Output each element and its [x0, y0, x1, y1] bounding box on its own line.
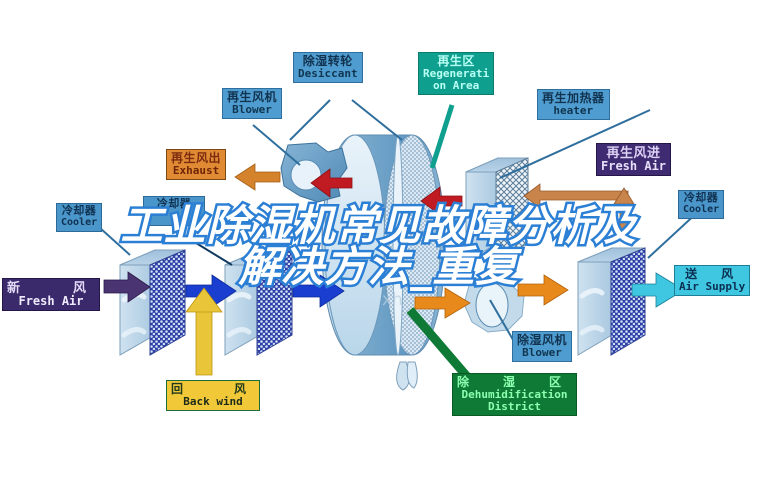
label-dehumidification-blower-en: Blower: [517, 347, 567, 359]
arrow-exhaust-out: [235, 164, 280, 190]
svg-text:xh: xh: [382, 290, 403, 310]
label-desiccant-wheel-cn: 除湿转轮: [298, 55, 358, 68]
label-fresh-air-cn: 新 风: [7, 281, 95, 295]
label-desiccant-wheel-en: Desiccant: [298, 68, 358, 80]
label-regeneration-fresh-air-en: Fresh Air: [601, 160, 666, 173]
label-cooler-right: 冷却器 Cooler: [678, 190, 724, 219]
label-dehumidification-district-cn: 除 湿 区: [457, 376, 572, 389]
label-air-supply-cn: 送 风: [679, 268, 745, 281]
label-air-supply: 送 风 Air Supply: [674, 265, 750, 296]
label-regeneration-area-en2: on Area: [423, 80, 489, 92]
dehumidifier-schematic-art: xh: [0, 0, 757, 488]
label-back-wind: 回 风 Back wind: [166, 380, 260, 411]
arrow-heater-in: [524, 184, 628, 208]
label-dehumidification-blower-cn: 除湿风机: [517, 334, 567, 347]
label-cooler-mid-cn: 冷却器: [148, 199, 200, 211]
regeneration-heater-block: [466, 158, 528, 262]
label-regeneration-heater-en: heater: [542, 105, 605, 117]
label-air-supply-en: Air Supply: [679, 281, 745, 293]
cooler-block-right: [578, 248, 645, 355]
cooler-block-left: [120, 250, 185, 355]
label-regeneration-exhaust-cn: 再生风出: [171, 152, 221, 165]
leader-cooler-left-a: [100, 228, 130, 255]
leader-regen-area: [432, 105, 452, 168]
label-cooler-right-en: Cooler: [683, 205, 719, 216]
label-regeneration-blower-cn: 再生风机: [227, 91, 277, 104]
diagram-canvas: xh: [0, 0, 757, 488]
label-fresh-air: 新 风 Fresh Air: [2, 278, 100, 311]
regeneration-blower-fan: [281, 143, 347, 202]
leader-desiccant: [290, 100, 330, 140]
label-dehumidification-blower: 除湿风机 Blower: [512, 331, 572, 362]
label-cooler-left-en: Cooler: [61, 218, 97, 229]
label-regeneration-area: 再生区 Regenerati on Area: [418, 52, 494, 95]
label-fresh-air-en: Fresh Air: [7, 295, 95, 308]
label-regeneration-heater: 再生加热器 heater: [537, 89, 610, 120]
arrow-fan-out: [518, 275, 568, 305]
label-regeneration-blower: 再生风机 Blower: [222, 88, 282, 119]
label-back-wind-en: Back wind: [171, 396, 255, 408]
label-regeneration-area-cn: 再生区: [423, 55, 489, 68]
label-regeneration-exhaust: 再生风出 Exhaust: [166, 149, 226, 180]
label-desiccant-wheel: 除湿转轮 Desiccant: [293, 52, 363, 83]
label-cooler-mid: 冷却器: [143, 196, 205, 226]
leader-desiccant-2: [352, 100, 402, 140]
label-back-wind-cn: 回 风: [171, 383, 255, 396]
label-dehumidification-district-en2: District: [457, 401, 572, 413]
label-dehumidification-district: 除 湿 区 Dehumidification District: [452, 373, 577, 416]
leader-cooler-left-b: [178, 232, 232, 265]
label-regeneration-fresh-air: 再生风进 Fresh Air: [596, 143, 671, 176]
label-regeneration-blower-en: Blower: [227, 104, 277, 116]
label-regeneration-fresh-air-cn: 再生风进: [601, 146, 666, 160]
cooler-block-mid: [225, 250, 292, 355]
label-cooler-left: 冷却器 Cooler: [56, 203, 102, 232]
label-regeneration-exhaust-en: Exhaust: [171, 165, 221, 177]
label-regeneration-heater-cn: 再生加热器: [542, 92, 605, 105]
